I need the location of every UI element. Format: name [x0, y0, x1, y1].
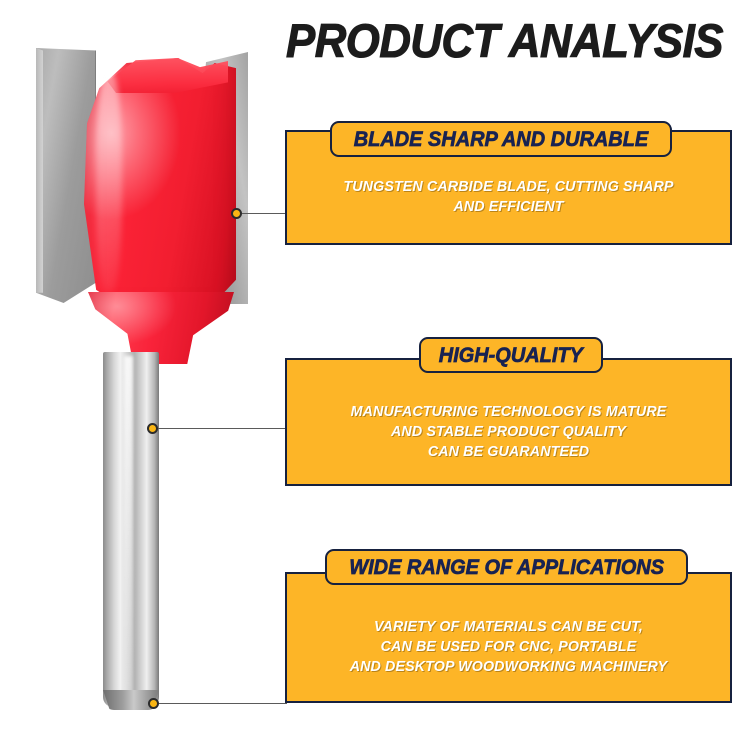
callout-heading-label-applications: WIDE RANGE OF APPLICATIONS	[349, 557, 664, 578]
callout-body-applications: VARIETY OF MATERIALS CAN BE CUT, CAN BE …	[299, 617, 718, 677]
connector-line-applications	[159, 703, 287, 704]
connector-dot-applications	[148, 698, 159, 709]
callout-panel-applications: VARIETY OF MATERIALS CAN BE CUT, CAN BE …	[285, 572, 732, 703]
connector-dot-blade	[231, 208, 242, 219]
connector-line-blade	[242, 213, 287, 214]
callout-heading-label-blade: BLADE SHARP AND DURABLE	[354, 129, 648, 150]
product-illustration	[0, 0, 280, 750]
carbide-blade-left-edge-icon	[36, 48, 43, 303]
callout-body-blade: TUNGSTEN CARBIDE BLADE, CUTTING SHARP AN…	[299, 177, 718, 217]
shank-highlight	[124, 356, 133, 701]
callout-heading-pill-applications: WIDE RANGE OF APPLICATIONS	[325, 549, 688, 585]
connector-dot-quality	[147, 423, 158, 434]
cutter-highlight	[96, 72, 122, 292]
connector-line-quality	[158, 428, 287, 429]
callout-panel-quality: MANUFACTURING TECHNOLOGY IS MATURE AND S…	[285, 358, 732, 486]
page-title: PRODUCT ANALYSIS	[286, 16, 705, 66]
callout-heading-pill-quality: HIGH-QUALITY	[419, 337, 603, 373]
callout-heading-pill-blade: BLADE SHARP AND DURABLE	[330, 121, 672, 157]
callout-body-quality: MANUFACTURING TECHNOLOGY IS MATURE AND S…	[299, 402, 718, 462]
infographic-canvas: PRODUCT ANALYSIS TUNGSTEN CARBIDE BLADE,…	[0, 0, 750, 750]
callout-heading-label-quality: HIGH-QUALITY	[439, 345, 583, 366]
